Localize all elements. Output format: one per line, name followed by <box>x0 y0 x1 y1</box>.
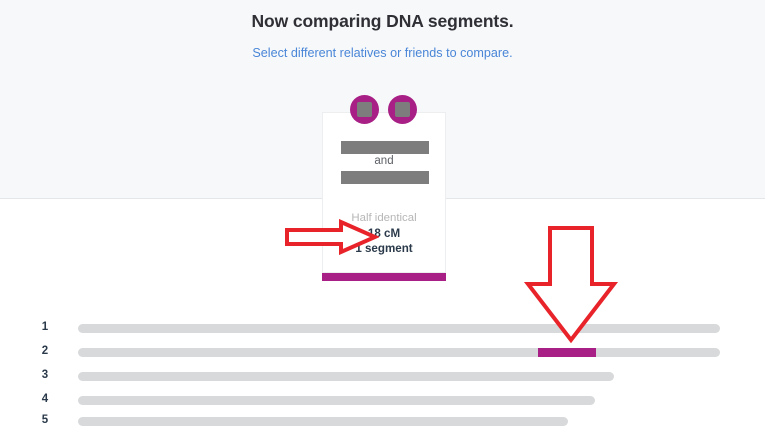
avatar-left[interactable] <box>350 95 379 124</box>
and-conjunction-label: and <box>323 155 445 167</box>
chromosome-track <box>78 396 595 405</box>
chromosome-row[interactable]: 5 <box>0 414 765 428</box>
chromosome-track <box>78 348 720 357</box>
redacted-name-bar-2 <box>341 171 429 184</box>
page-title: Now comparing DNA segments. <box>0 11 765 32</box>
card-accent-bar <box>322 273 446 281</box>
chromosome-list: 12345 <box>0 310 765 430</box>
select-relatives-link[interactable]: Select different relatives or friends to… <box>0 46 765 60</box>
avatar-placeholder-icon <box>395 102 410 117</box>
chromosome-track <box>78 417 568 426</box>
chromosome-row[interactable]: 2 <box>0 345 765 359</box>
avatar-placeholder-icon <box>357 102 372 117</box>
chromosome-row[interactable]: 1 <box>0 321 765 335</box>
chromosome-label: 5 <box>38 414 52 426</box>
chromosome-track <box>78 372 614 381</box>
annotation-arrow-down <box>522 224 620 346</box>
chromosome-row[interactable]: 4 <box>0 393 765 407</box>
redacted-name-bar-1 <box>341 141 429 154</box>
chromosome-row[interactable]: 3 <box>0 369 765 383</box>
chromosome-track <box>78 324 720 333</box>
avatar-right[interactable] <box>388 95 417 124</box>
chromosome-label: 2 <box>38 345 52 357</box>
shared-dna-segment[interactable] <box>538 348 596 357</box>
chromosome-label: 4 <box>38 393 52 405</box>
chromosome-label: 1 <box>38 321 52 333</box>
annotation-arrow-right <box>283 219 379 255</box>
chromosome-label: 3 <box>38 369 52 381</box>
